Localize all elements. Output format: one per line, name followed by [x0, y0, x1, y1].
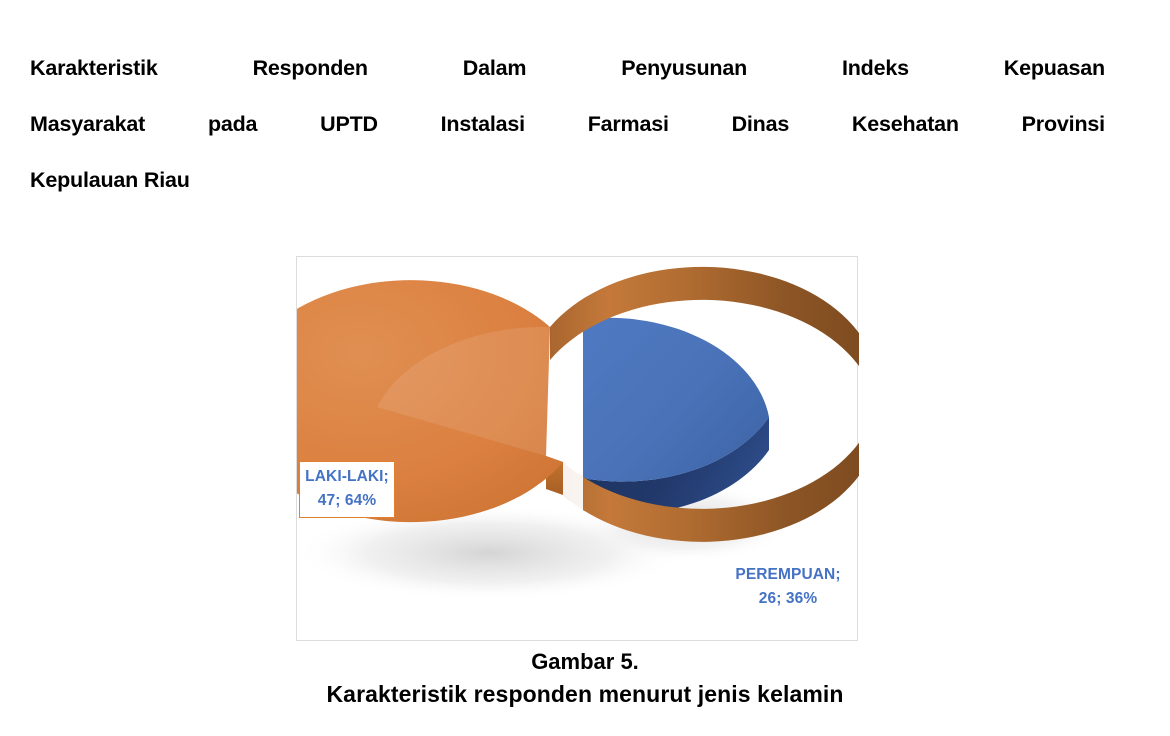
figure-caption: Gambar 5. Karakteristik responden menuru… [0, 646, 1170, 710]
data-label-laki-laki-line2: 47; 64% [300, 489, 394, 513]
pie-slice-perempuan[interactable] [583, 318, 769, 515]
heading-word: UPTD [320, 96, 378, 152]
data-label-laki-laki-line1: LAKI-LAKI; [300, 465, 394, 489]
heading-word: Provinsi [1022, 96, 1105, 152]
data-label-perempuan-line1: PEREMPUAN; [724, 563, 852, 587]
heading-line-3: Kepulauan Riau [30, 152, 1105, 208]
data-label-laki-laki[interactable]: LAKI-LAKI; 47; 64% [299, 461, 395, 518]
heading-word: Farmasi [588, 96, 669, 152]
heading-word: Instalasi [441, 96, 525, 152]
data-label-perempuan[interactable]: PEREMPUAN; 26; 36% [724, 563, 852, 611]
heading-line-2: Masyarakat pada UPTD Instalasi Farmasi D… [30, 96, 1105, 152]
heading-word: Kesehatan [852, 96, 959, 152]
pie-explode-gap [563, 462, 583, 512]
figure-number: Gambar 5. [0, 646, 1170, 678]
heading-word: Indeks [842, 40, 909, 96]
heading-word: Kepuasan [1004, 40, 1105, 96]
heading-line-1: Karakteristik Responden Dalam Penyusunan… [30, 40, 1105, 96]
heading-word: Masyarakat [30, 96, 145, 152]
heading-word: Penyusunan [621, 40, 747, 96]
heading-word: Kepulauan Riau [30, 152, 190, 208]
heading-paragraph: Karakteristik Responden Dalam Penyusunan… [30, 40, 1105, 208]
figure-title: Karakteristik responden menurut jenis ke… [0, 678, 1170, 710]
heading-word: Dalam [463, 40, 527, 96]
heading-word: Responden [253, 40, 368, 96]
data-label-perempuan-line2: 26; 36% [724, 587, 852, 611]
heading-word: Dinas [732, 96, 790, 152]
heading-word: pada [208, 96, 257, 152]
heading-word: Karakteristik [30, 40, 158, 96]
